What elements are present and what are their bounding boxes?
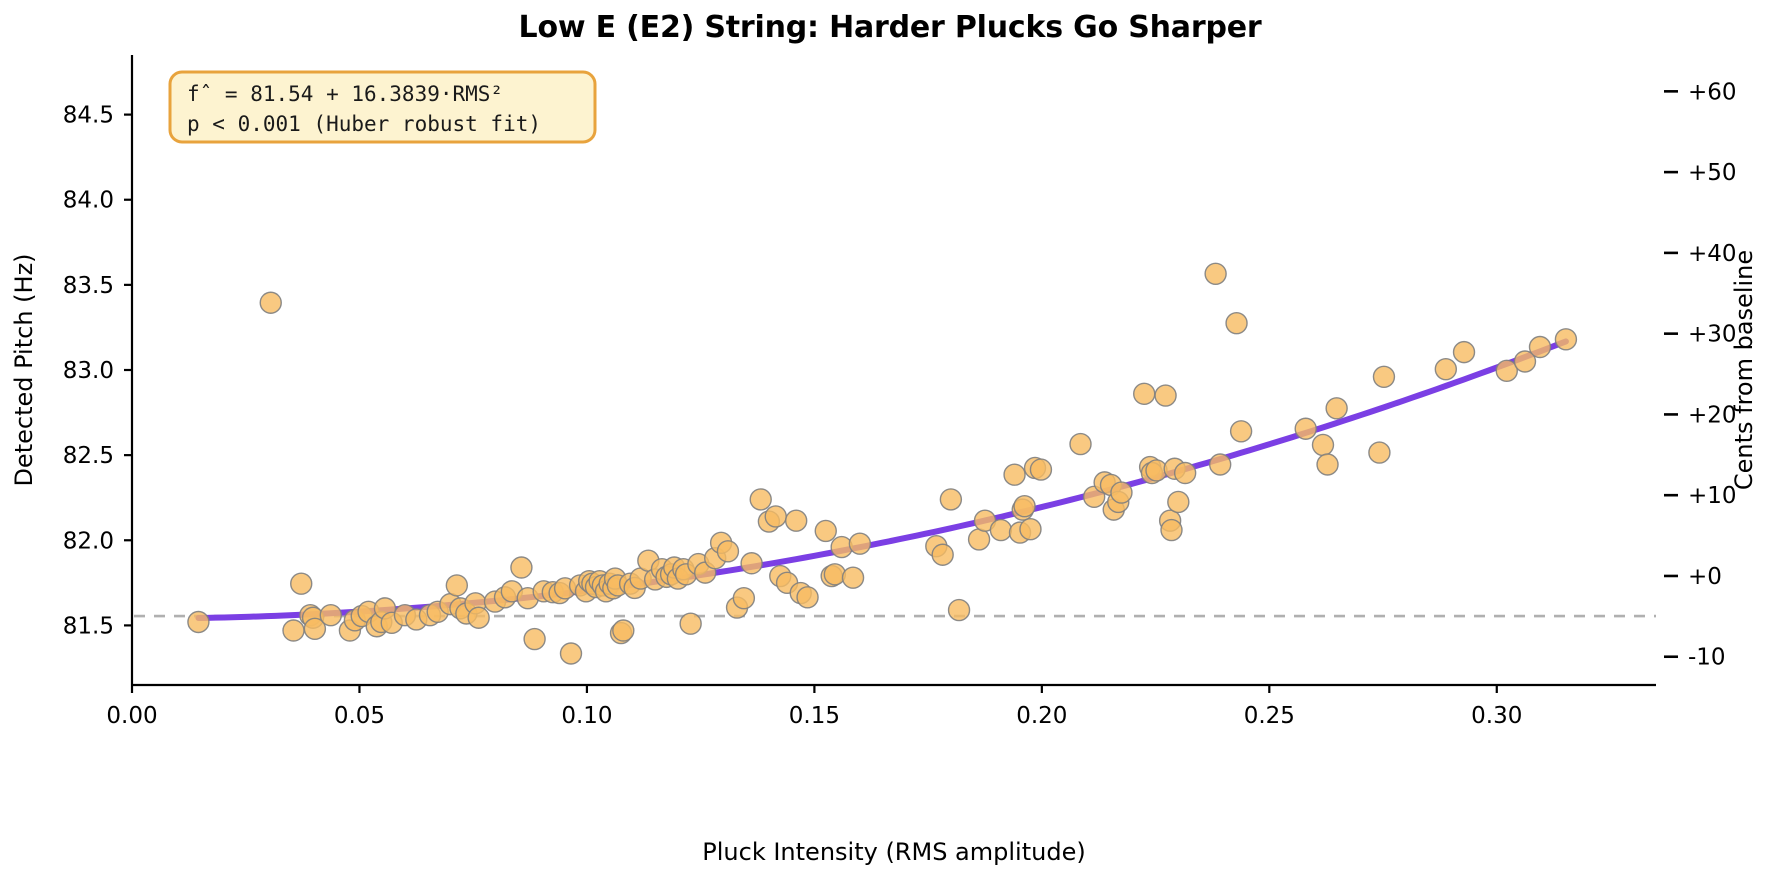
scatter-point (1226, 313, 1247, 334)
y2-tick-label: +0 (1688, 564, 1722, 590)
scatter-point (1312, 434, 1333, 455)
scatter-plot-canvas: 0.000.050.100.150.200.250.30 81.582.082.… (0, 0, 1780, 880)
scatter-point-group (188, 263, 1577, 664)
scatter-point (1210, 454, 1231, 475)
scatter-point (940, 489, 961, 510)
annotation-pvalue-line: p < 0.001 (Huber robust fit) (187, 112, 541, 136)
regression-fit-curve (198, 341, 1566, 618)
scatter-point (283, 620, 304, 641)
scatter-point (1155, 385, 1176, 406)
scatter-point (797, 587, 818, 608)
scatter-point (717, 541, 738, 562)
scatter-point (1004, 464, 1025, 485)
x-tick-label: 0.15 (789, 703, 840, 729)
scatter-point (824, 564, 845, 585)
scatter-point (1326, 398, 1347, 419)
scatter-point (1555, 329, 1576, 350)
scatter-point (831, 537, 852, 558)
scatter-point (741, 553, 762, 574)
scatter-point (1454, 342, 1475, 363)
fit-annotation-box: fˆ = 81.54 + 16.3839·RMS² p < 0.001 (Hub… (170, 72, 595, 142)
scatter-point (188, 612, 209, 633)
x-tick-label: 0.30 (1471, 703, 1522, 729)
scatter-point (1529, 337, 1550, 358)
scatter-point (291, 573, 312, 594)
scatter-point (680, 613, 701, 634)
scatter-point (1111, 482, 1132, 503)
scatter-point (849, 533, 870, 554)
scatter-point (990, 520, 1011, 541)
scatter-point (524, 629, 545, 650)
scatter-point (260, 292, 281, 313)
scatter-point (1295, 418, 1316, 439)
secondary-y-axis-ticks: -10+0+10+20+30+40+50+60 (1664, 79, 1737, 670)
chart-title: Low E (E2) String: Harder Plucks Go Shar… (0, 10, 1780, 45)
x-axis-ticks: 0.000.050.100.150.200.250.30 (106, 685, 1522, 729)
y2-tick-label: +60 (1688, 79, 1737, 105)
y-tick-label: 82.0 (63, 528, 114, 554)
x-tick-label: 0.10 (561, 703, 612, 729)
scatter-point (1175, 463, 1196, 484)
scatter-point (1317, 454, 1338, 475)
scatter-point (1134, 383, 1155, 404)
y2-tick-label: +50 (1688, 160, 1737, 186)
scatter-point (561, 643, 582, 664)
scatter-point (750, 489, 771, 510)
chart-figure: Low E (E2) String: Harder Plucks Go Shar… (0, 0, 1780, 880)
scatter-point (815, 520, 836, 541)
annotation-equation-line: fˆ = 81.54 + 16.3839·RMS² (187, 82, 503, 106)
secondary-y-axis-label: Cents from baseline (1730, 250, 1758, 490)
scatter-point (786, 510, 807, 531)
scatter-point (613, 620, 634, 641)
x-axis-label: Pluck Intensity (RMS amplitude) (702, 838, 1085, 866)
x-tick-label: 0.25 (1244, 703, 1295, 729)
scatter-point (969, 529, 990, 550)
scatter-point (1231, 421, 1252, 442)
x-tick-label: 0.00 (106, 703, 157, 729)
scatter-point (468, 607, 489, 628)
scatter-point (843, 567, 864, 588)
scatter-point (1435, 359, 1456, 380)
y-tick-label: 83.0 (63, 358, 114, 384)
scatter-point (1373, 366, 1394, 387)
y-tick-label: 82.5 (63, 443, 114, 469)
x-tick-label: 0.05 (334, 703, 385, 729)
scatter-point (320, 605, 341, 626)
y-tick-label: 84.5 (63, 103, 114, 129)
scatter-point (1205, 263, 1226, 284)
scatter-point (733, 588, 754, 609)
scatter-point (949, 600, 970, 621)
scatter-point (511, 557, 532, 578)
y-tick-label: 81.5 (63, 613, 114, 639)
scatter-point (932, 544, 953, 565)
y-tick-label: 84.0 (63, 188, 114, 214)
scatter-point (1030, 459, 1051, 480)
scatter-point (1014, 496, 1035, 517)
scatter-point (1168, 491, 1189, 512)
scatter-point (1020, 519, 1041, 540)
y-axis-label: Detected Pitch (Hz) (10, 253, 38, 486)
scatter-point (1161, 520, 1182, 541)
axis-spines (132, 55, 1656, 685)
scatter-point (765, 506, 786, 527)
scatter-point (446, 575, 467, 596)
x-tick-label: 0.20 (1016, 703, 1067, 729)
y-tick-label: 83.5 (63, 273, 114, 299)
y2-tick-label: -10 (1688, 645, 1726, 671)
y-axis-ticks: 81.582.082.583.083.584.084.5 (63, 103, 132, 640)
scatter-point (1070, 434, 1091, 455)
scatter-point (1369, 442, 1390, 463)
